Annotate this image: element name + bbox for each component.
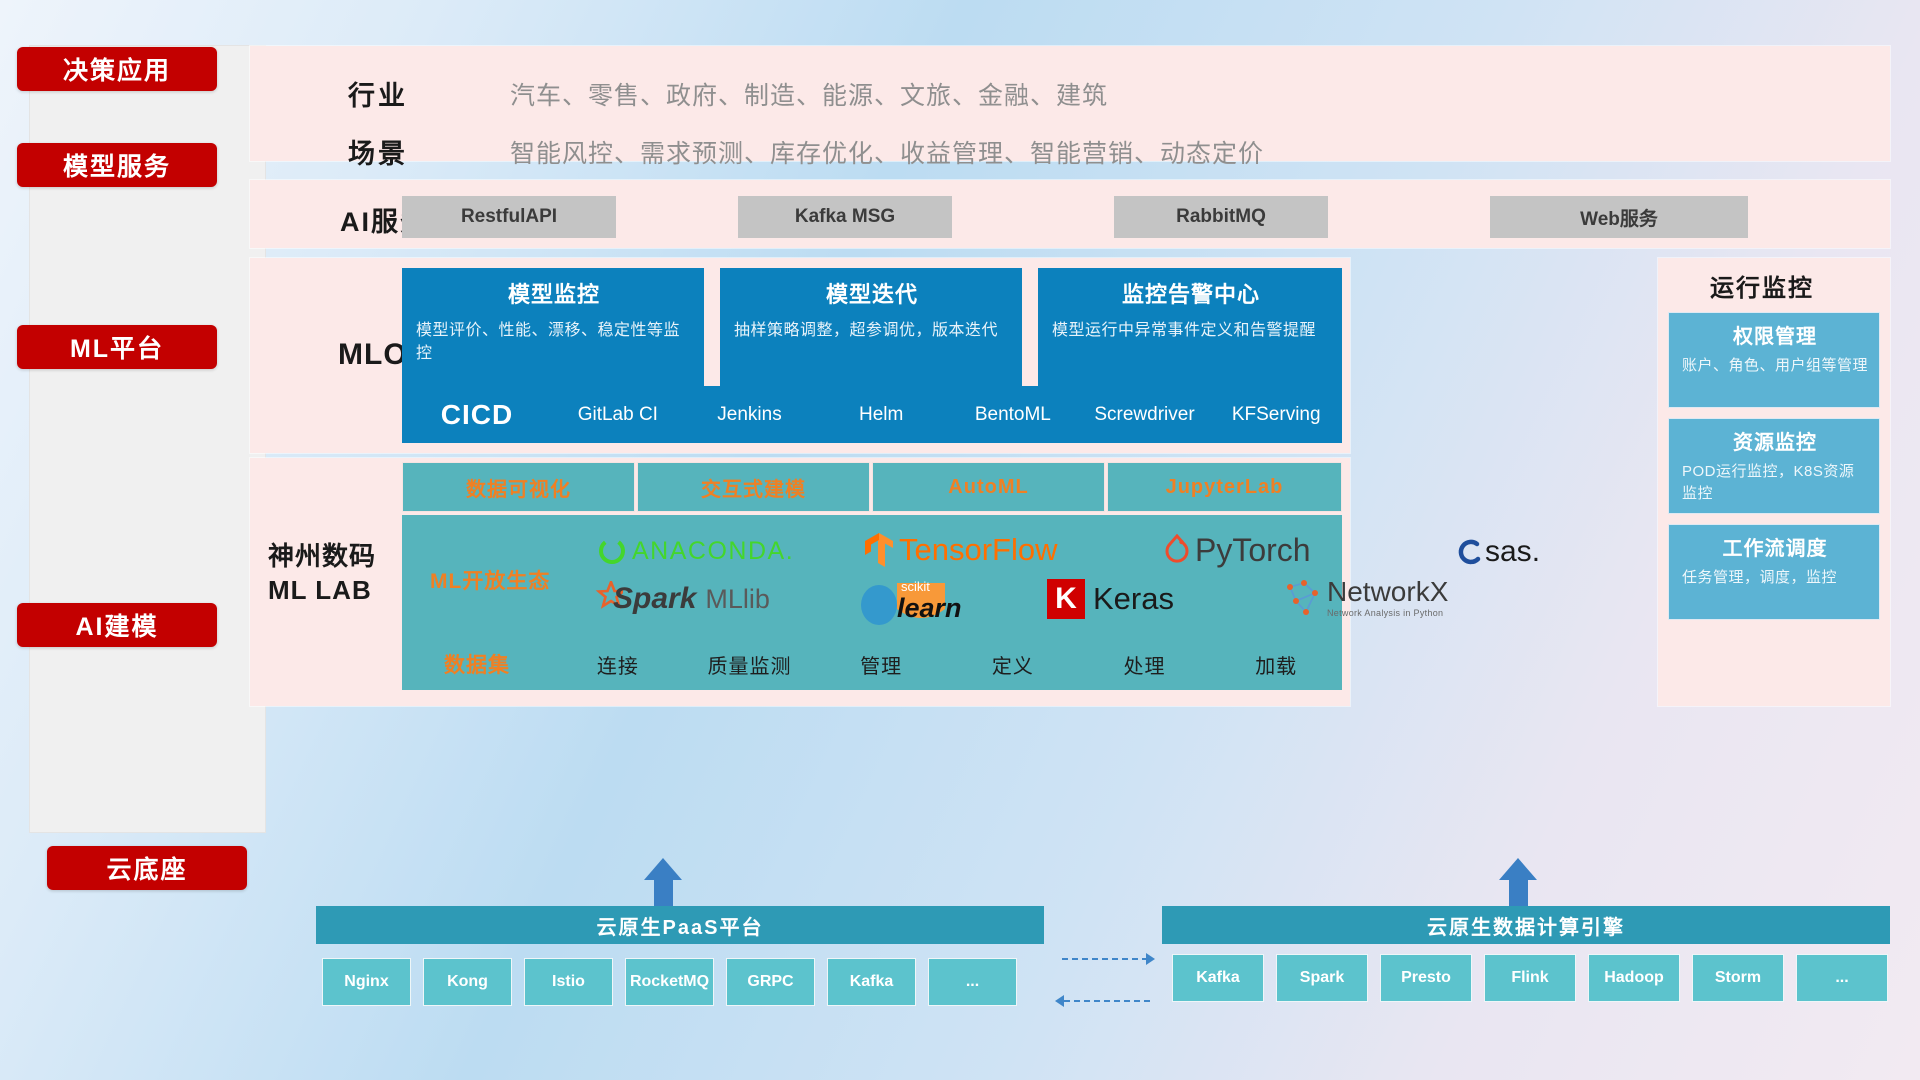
tech-chip-label: ... <box>966 973 979 991</box>
networkx-tagline: Network Analysis in Python <box>1327 608 1448 618</box>
tech-chip-label: Kong <box>447 973 488 991</box>
tech-chip-label: Kafka <box>850 973 894 991</box>
mlops-card-alert-center[interactable]: 监控告警中心 模型运行中异常事件定义和告警提醒 <box>1038 268 1342 390</box>
keras-logo: K Keras <box>1047 579 1174 619</box>
scikit-learn-logo: scikit learn <box>857 577 955 627</box>
paas-platform-label: 云原生PaaS平台 <box>597 911 764 940</box>
cicd-tool-helm[interactable]: Helm <box>815 405 947 425</box>
ops-monitoring-title: 运行监控 <box>1710 268 1814 303</box>
mlops-card-model-monitoring[interactable]: 模型监控 模型评价、性能、漂移、稳定性等监控 <box>402 268 704 390</box>
dataset-action-define[interactable]: 定义 <box>947 650 1079 679</box>
mlops-card-desc: 模型评价、性能、漂移、稳定性等监控 <box>416 319 692 365</box>
pytorch-logo: PyTorch <box>1162 532 1311 569</box>
industry-list: 汽车、零售、政府、制造、能源、文旅、金融、建筑 <box>510 76 1108 112</box>
scenario-list: 智能风控、需求预测、库存优化、收益管理、智能营销、动态定价 <box>510 134 1264 170</box>
tech-chip-label: Nginx <box>344 973 388 991</box>
lab-tab-data-visualization[interactable]: 数据可视化 <box>402 462 635 512</box>
lab-tab-label: 数据可视化 <box>466 473 571 502</box>
cicd-tool-bentoml[interactable]: BentoML <box>947 405 1079 425</box>
tensorflow-mark-icon <box>862 531 896 569</box>
dataset-strip: 数据集 连接 质量监测 管理 定义 处理 加载 <box>402 638 1342 690</box>
lab-tab-label: 交互式建模 <box>701 473 806 502</box>
ops-card-desc: 账户、角色、用户组等管理 <box>1682 355 1868 377</box>
tech-chip-grpc[interactable]: GRPC <box>726 958 815 1006</box>
sidebar-item-cloud-base[interactable]: 云底座 <box>47 846 247 890</box>
industry-label: 行业 <box>348 74 408 113</box>
pytorch-wordmark: PyTorch <box>1195 532 1311 569</box>
sas-mark-icon <box>1454 537 1484 567</box>
tech-chip-istio[interactable]: Istio <box>524 958 613 1006</box>
ops-card-permission-management[interactable]: 权限管理 账户、角色、用户组等管理 <box>1668 312 1880 408</box>
tech-chip-presto[interactable]: Presto <box>1380 954 1472 1002</box>
tech-chip-label: Istio <box>552 973 585 991</box>
cicd-toolchain-strip: CICD GitLab CI Jenkins Helm BentoML Scre… <box>402 386 1342 443</box>
cicd-tool-gitlab-ci[interactable]: GitLab CI <box>552 405 684 425</box>
ops-card-title: 资源监控 <box>1682 426 1868 455</box>
networkx-graph-icon <box>1282 577 1322 619</box>
ops-card-resource-monitoring[interactable]: 资源监控 POD运行监控，K8S资源监控 <box>1668 418 1880 514</box>
paas-platform-bar[interactable]: 云原生PaaS平台 <box>316 906 1044 944</box>
service-button-restfulapi[interactable]: RestfulAPI <box>402 196 616 238</box>
lab-tab-label: JupyterLab <box>1166 476 1284 499</box>
tech-chip-label: GRPC <box>747 973 793 991</box>
sidebar-item-label: 云底座 <box>106 850 187 886</box>
tech-chip-more-left[interactable]: ... <box>928 958 1017 1006</box>
pytorch-flame-icon <box>1162 534 1192 568</box>
sidebar-item-ai-modeling[interactable]: AI建模 <box>17 603 217 647</box>
data-compute-engine-label: 云原生数据计算引擎 <box>1427 911 1625 940</box>
tensorflow-logo: TensorFlow <box>862 531 1058 569</box>
anaconda-dot: . <box>786 537 793 566</box>
sas-logo: sas . <box>1454 535 1540 569</box>
mlops-card-desc: 抽样策略调整，超参调优，版本迭代 <box>734 319 1010 342</box>
service-button-label: RestfulAPI <box>461 206 557 228</box>
sas-dot: . <box>1532 535 1540 569</box>
ops-card-title: 工作流调度 <box>1682 532 1868 561</box>
lab-tab-label: AutoML <box>948 476 1028 499</box>
dataset-action-manage[interactable]: 管理 <box>815 650 947 679</box>
ops-card-desc: 任务管理，调度，监控 <box>1682 567 1868 589</box>
sidebar-item-label: 模型服务 <box>63 147 171 183</box>
tech-chip-hadoop[interactable]: Hadoop <box>1588 954 1680 1002</box>
mlops-card-model-iteration[interactable]: 模型迭代 抽样策略调整，超参调优，版本迭代 <box>720 268 1022 390</box>
networkx-wordmark: NetworkX <box>1327 578 1448 606</box>
tech-chip-label: Storm <box>1715 969 1761 987</box>
service-button-rabbitmq[interactable]: RabbitMQ <box>1114 196 1328 238</box>
mlops-card-title: 监控告警中心 <box>1052 277 1330 309</box>
tech-chip-label: Presto <box>1401 969 1451 987</box>
cicd-tool-jenkins[interactable]: Jenkins <box>684 405 816 425</box>
spark-mllib-logo: Spark MLlib <box>585 581 770 617</box>
dataset-action-quality-monitor[interactable]: 质量监测 <box>684 650 816 679</box>
data-compute-engine-bar[interactable]: 云原生数据计算引擎 <box>1162 906 1890 944</box>
spark-wordmark: Spark <box>613 582 696 616</box>
scikit-wordmark: scikit <box>901 579 930 594</box>
tensorflow-wordmark: TensorFlow <box>899 532 1058 568</box>
sas-wordmark: sas <box>1485 535 1532 569</box>
tech-chip-label: ... <box>1835 969 1848 987</box>
cicd-title: CICD <box>402 399 552 431</box>
sidebar-item-ml-platform[interactable]: ML平台 <box>17 325 217 369</box>
keras-mark-icon: K <box>1047 579 1085 619</box>
tech-chip-label: Kafka <box>1196 969 1240 987</box>
ml-ecosystem-strip: ML开放生态 ANACONDA . TensorFlow PyTorch sas… <box>402 515 1342 638</box>
sidebar-item-model-service[interactable]: 模型服务 <box>17 143 217 187</box>
tech-chip-spark[interactable]: Spark <box>1276 954 1368 1002</box>
tech-chip-kafka-left[interactable]: Kafka <box>827 958 916 1006</box>
sidebar-item-decision-app[interactable]: 决策应用 <box>17 47 217 91</box>
tech-chip-label: Flink <box>1511 969 1548 987</box>
service-button-label: Web服务 <box>1580 204 1658 231</box>
mlops-card-desc: 模型运行中异常事件定义和告警提醒 <box>1052 319 1330 342</box>
dataset-action-connect[interactable]: 连接 <box>552 650 684 679</box>
anaconda-wordmark: ANACONDA <box>632 537 786 566</box>
ops-card-workflow-scheduling[interactable]: 工作流调度 任务管理，调度，监控 <box>1668 524 1880 620</box>
anaconda-mark-icon <box>597 536 627 566</box>
tech-chip-more-right[interactable]: ... <box>1796 954 1888 1002</box>
service-button-web-service[interactable]: Web服务 <box>1490 196 1748 238</box>
networkx-logo: NetworkX Network Analysis in Python <box>1282 577 1448 619</box>
tech-chip-label: Hadoop <box>1604 969 1664 987</box>
tech-chip-label: RocketMQ <box>630 973 709 991</box>
service-button-kafka-msg[interactable]: Kafka MSG <box>738 196 952 238</box>
lab-tab-jupyterlab[interactable]: JupyterLab <box>1107 462 1342 512</box>
sidebar-item-label: 决策应用 <box>63 51 171 87</box>
dataset-action-load[interactable]: 加载 <box>1210 650 1342 679</box>
cicd-tool-screwdriver[interactable]: Screwdriver <box>1079 405 1211 425</box>
sidebar-item-label: AI建模 <box>75 607 158 643</box>
tech-chip-rocketmq[interactable]: RocketMQ <box>625 958 714 1006</box>
sidebar-item-label: ML平台 <box>70 329 164 365</box>
tech-chip-nginx[interactable]: Nginx <box>322 958 411 1006</box>
tech-chip-flink[interactable]: Flink <box>1484 954 1576 1002</box>
cicd-tool-kfserving[interactable]: KFServing <box>1210 405 1342 425</box>
anaconda-logo: ANACONDA . <box>597 536 793 566</box>
ops-card-desc: POD运行监控，K8S资源监控 <box>1682 461 1868 505</box>
tech-chip-kong[interactable]: Kong <box>423 958 512 1006</box>
service-button-label: Kafka MSG <box>795 206 895 228</box>
dataset-action-process[interactable]: 处理 <box>1079 650 1211 679</box>
mllib-wordmark: MLlib <box>705 584 770 615</box>
tech-chip-storm[interactable]: Storm <box>1692 954 1784 1002</box>
tech-chip-kafka-right[interactable]: Kafka <box>1172 954 1264 1002</box>
mlops-card-title: 模型迭代 <box>734 277 1010 309</box>
scenario-label: 场景 <box>348 132 408 171</box>
ml-lab-label: 神州数码 ML LAB <box>268 540 376 608</box>
ops-card-title: 权限管理 <box>1682 320 1868 349</box>
lab-tab-automl[interactable]: AutoML <box>872 462 1105 512</box>
lab-tab-interactive-modeling[interactable]: 交互式建模 <box>637 462 870 512</box>
tech-chip-label: Spark <box>1300 969 1344 987</box>
dataset-head-label: 数据集 <box>402 649 552 679</box>
mlops-card-title: 模型监控 <box>416 277 692 309</box>
ml-ecosystem-label: ML开放生态 <box>430 565 550 595</box>
service-button-label: RabbitMQ <box>1176 206 1266 228</box>
keras-wordmark: Keras <box>1093 581 1174 617</box>
learn-wordmark: learn <box>897 593 962 624</box>
